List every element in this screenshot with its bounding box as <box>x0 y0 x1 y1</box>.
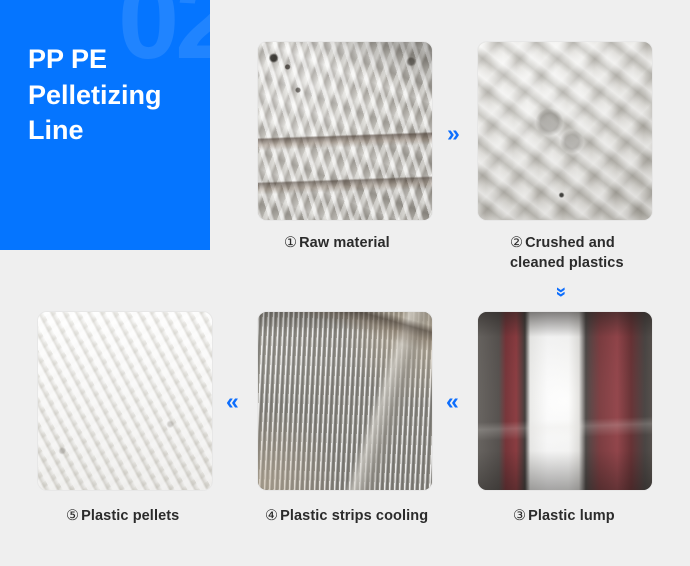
step-2-caption: ②Crushed and cleaned plastics <box>510 234 670 273</box>
page-title: PP PE Pelletizing Line <box>28 42 203 149</box>
step-5-number: ⑤ <box>66 508 79 524</box>
chevron-right-icon-step1-to-step2: » <box>447 122 460 145</box>
chevron-left-icon-step4-to-step5: « <box>226 390 239 413</box>
step-2-number: ② <box>510 235 523 251</box>
step-4-caption: ④Plastic strips cooling <box>265 507 445 527</box>
chevron-left-icon-step3-to-step4: « <box>446 390 459 413</box>
step-2-image <box>478 42 652 220</box>
step-1-label: Raw material <box>299 235 390 251</box>
plastic-lump-photo <box>478 312 652 490</box>
step-5-label: Plastic pellets <box>81 508 179 524</box>
step-5-caption: ⑤Plastic pellets <box>66 507 236 527</box>
step-1-caption: ①Raw material <box>284 234 454 254</box>
step-3-image <box>478 312 652 490</box>
step-4-image <box>258 312 432 490</box>
baled-plastic-film-photo <box>258 42 432 220</box>
chevron-down-icon-step2-to-step3: » <box>551 287 570 297</box>
step-5-image <box>38 312 212 490</box>
title-panel: 02 PP PE Pelletizing Line <box>0 0 210 250</box>
step-4-number: ④ <box>265 508 278 524</box>
step-1-number: ① <box>284 235 297 251</box>
plastic-strips-cooling-photo <box>258 312 432 490</box>
step-4-label: Plastic strips cooling <box>280 508 428 524</box>
step-3-label: Plastic lump <box>528 508 615 524</box>
step-2-label: Crushed and cleaned plastics <box>510 235 624 271</box>
step-1-image <box>258 42 432 220</box>
step-3-number: ③ <box>513 508 526 524</box>
plastic-pellets-photo <box>38 312 212 490</box>
step-3-caption: ③Plastic lump <box>513 507 673 527</box>
pp-pe-pelletizing-line-infographic: 02 PP PE Pelletizing Line ①Raw material … <box>0 0 690 566</box>
crushed-plastic-flakes-photo <box>478 42 652 220</box>
